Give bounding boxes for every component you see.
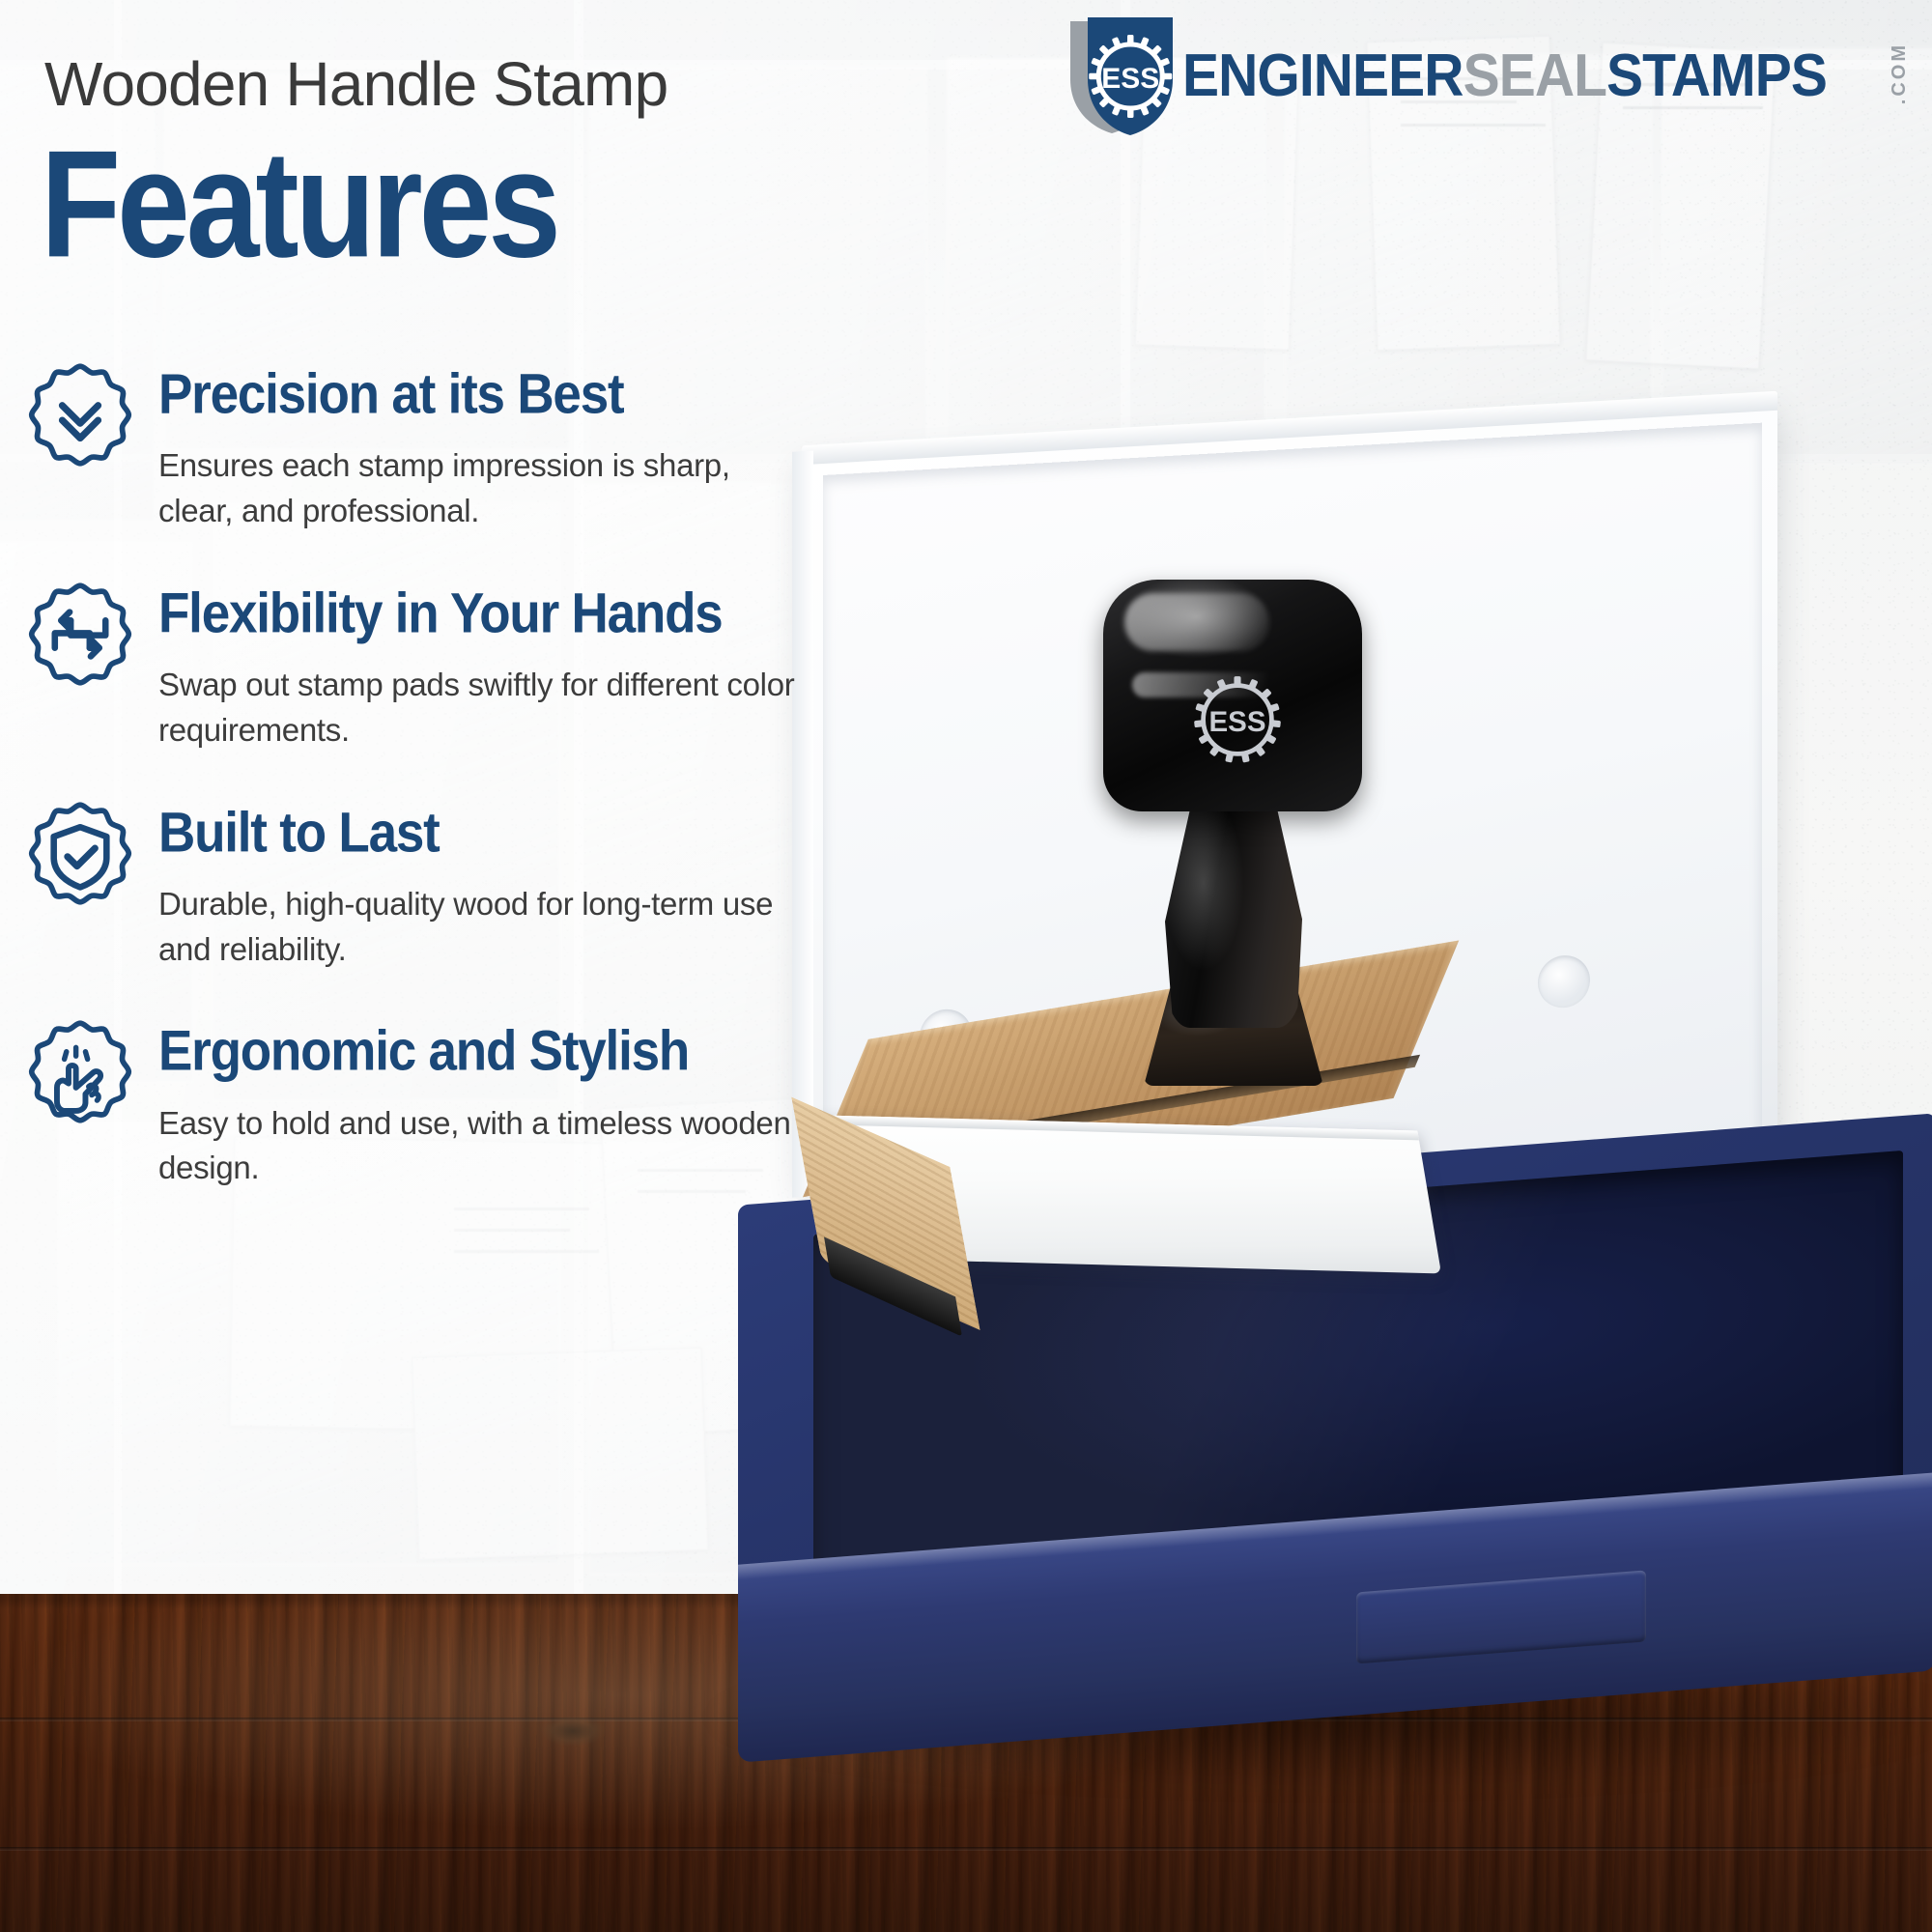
feature-description: Ensures each stamp impression is sharp, … xyxy=(158,443,796,534)
feature-description: Easy to hold and use, with a timeless wo… xyxy=(158,1101,796,1192)
feature-title: Ergonomic and Stylish xyxy=(158,1022,796,1081)
brand-tld: .COM xyxy=(1889,43,1911,104)
logo-mark-text: ESS xyxy=(1101,63,1159,95)
feature-text-block: Precision at its Best Ensures each stamp… xyxy=(158,357,796,534)
feature-text-block: Built to Last Durable, high-quality wood… xyxy=(158,796,796,973)
feature-item: Flexibility in Your Hands Swap out stamp… xyxy=(27,577,896,753)
brand-word-engineer: ENGINEER xyxy=(1182,42,1463,110)
handle-ess-text: ESS xyxy=(1209,706,1266,738)
ess-shield-icon: ESS xyxy=(1065,14,1179,137)
black-stamp-handle: ESS xyxy=(1072,580,1391,1082)
feature-item: Ergonomic and Stylish Easy to hold and u… xyxy=(27,1014,896,1191)
ess-gear-logo-on-handle: ESS xyxy=(1180,663,1294,777)
pointing-hand-icon xyxy=(27,1020,133,1134)
feature-item: Built to Last Durable, high-quality wood… xyxy=(27,796,896,973)
brand-wordmark: ENGINEER SEAL STAMPS xyxy=(1182,42,1827,110)
brand-logo[interactable]: ESS ENGINEER SEAL STAMPS .COM xyxy=(1065,14,1911,137)
eyebrow-subtitle: Wooden Handle Stamp xyxy=(44,48,668,120)
lid-dimple xyxy=(1538,954,1590,1009)
page-title: Features xyxy=(41,128,557,280)
swap-arrows-icon xyxy=(27,582,133,696)
feature-title: Flexibility in Your Hands xyxy=(158,584,796,643)
case-latch xyxy=(1356,1570,1646,1663)
features-list: Precision at its Best Ensures each stamp… xyxy=(27,357,896,1234)
feature-text-block: Ergonomic and Stylish Easy to hold and u… xyxy=(158,1014,796,1191)
feature-text-block: Flexibility in Your Hands Swap out stamp… xyxy=(158,577,796,753)
handle-highlight xyxy=(1124,593,1269,651)
feature-item: Precision at its Best Ensures each stamp… xyxy=(27,357,896,534)
product-photo: ESS xyxy=(734,386,1932,1893)
feature-description: Durable, high-quality wood for long-term… xyxy=(158,882,796,973)
handle-neck xyxy=(1165,786,1302,1028)
infographic-canvas: ESS Wooden Handle Stamp Features xyxy=(0,0,1932,1932)
brand-word-stamps: STAMPS xyxy=(1606,42,1827,110)
shield-check-icon xyxy=(27,802,133,916)
brand-word-seal: SEAL xyxy=(1463,42,1606,110)
feature-title: Precision at its Best xyxy=(158,365,796,424)
feature-description: Swap out stamp pads swiftly for differen… xyxy=(158,663,796,753)
chevron-double-down-icon xyxy=(27,363,133,477)
feature-title: Built to Last xyxy=(158,804,796,863)
